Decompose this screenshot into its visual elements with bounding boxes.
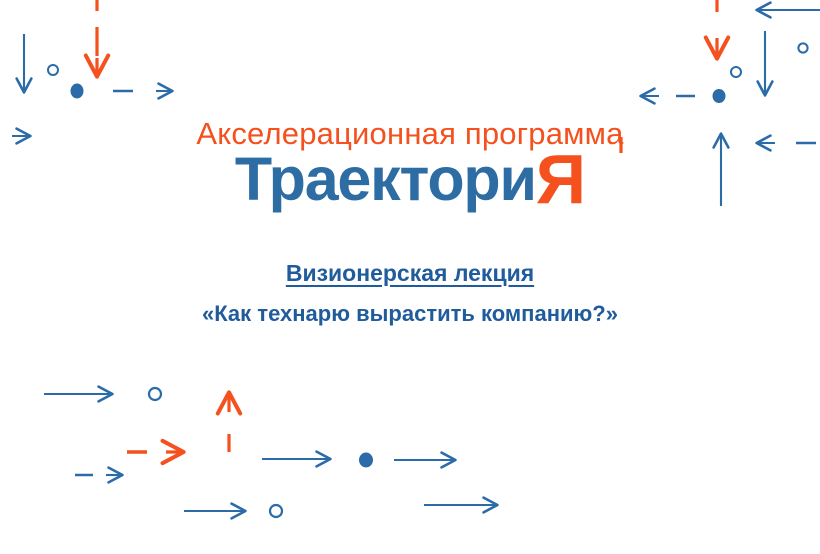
slide-content: Акселерационная программа ТраекториЯ Виз… [0,0,820,554]
lecture-name-heading: «Как технарю вырастить компанию?» [0,301,820,327]
brand-wordmark: ТраекториЯ [0,149,820,210]
brand-wordmark-blue: Траектори [235,145,536,213]
slide-root: Акселерационная программа ТраекториЯ Виз… [0,0,820,554]
brand-wordmark-orange: Я [536,140,585,218]
lecture-title-block: Визионерская лекция «Как технарю вырасти… [0,260,820,327]
lecture-type-heading: Визионерская лекция [0,260,820,287]
brand-logo: Акселерационная программа ТраекториЯ [0,118,820,210]
